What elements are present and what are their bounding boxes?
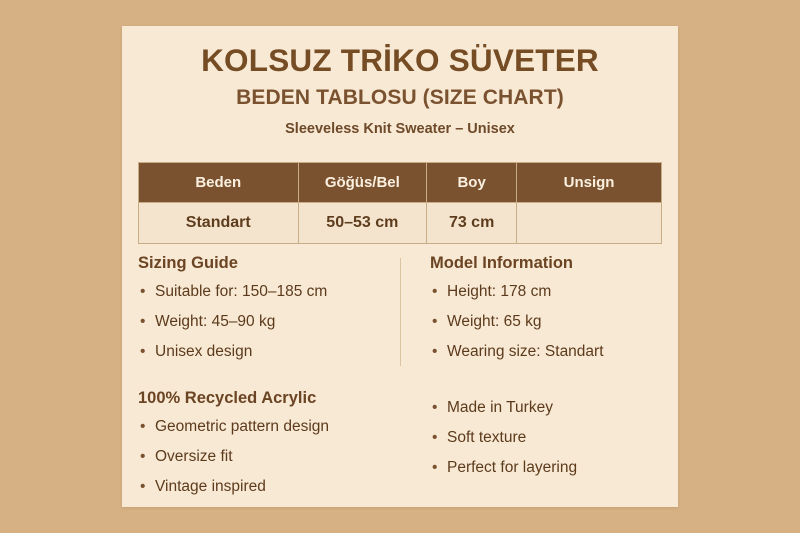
- list-item-label: Vintage inspired: [155, 478, 266, 495]
- list-item: •Wearing size: Standart: [430, 337, 662, 367]
- list-item: •Soft texture: [430, 423, 662, 453]
- material-heading: 100% Recycled Acrylic: [138, 389, 384, 408]
- table-cell-boy: 73 cm: [427, 203, 517, 244]
- bullet-icon: •: [432, 453, 437, 483]
- list-item-label: Geometric pattern design: [155, 418, 329, 435]
- list-item: •Weight: 45–90 kg: [138, 307, 384, 337]
- table-header-cell-gogus-bel: Göğüs/Bel: [298, 163, 427, 203]
- table-row: Standart 50–53 cm 73 cm: [139, 203, 662, 244]
- list-item-label: Height: 178 cm: [447, 283, 551, 300]
- table-header-cell-unsign: Unsign: [517, 163, 662, 203]
- bullet-icon: •: [432, 307, 437, 337]
- table-header-cell-boy: Boy: [427, 163, 517, 203]
- list-item-label: Made in Turkey: [447, 399, 553, 416]
- list-item: •Made in Turkey: [430, 393, 662, 423]
- sizing-guide-heading: Sizing Guide: [138, 254, 384, 273]
- table-header-cell-beden: Beden: [139, 163, 299, 203]
- page-title: KOLSUZ TRİKO SÜVETER: [122, 43, 678, 78]
- page-subtitle: BEDEN TABLOSU (SIZE CHART): [122, 86, 678, 110]
- model-information-list: •Height: 178 cm •Weight: 65 kg •Wearing …: [430, 277, 662, 367]
- list-item-label: Suitable for: 150–185 cm: [155, 283, 327, 300]
- left-info-column: Sizing Guide •Suitable for: 150–185 cm •…: [138, 254, 400, 502]
- features-list: •Made in Turkey •Soft texture •Perfect f…: [430, 393, 662, 483]
- card-header: KOLSUZ TRİKO SÜVETER BEDEN TABLOSU (SIZE…: [122, 26, 678, 137]
- bullet-icon: •: [432, 393, 437, 423]
- bullet-icon: •: [432, 423, 437, 453]
- bullet-icon: •: [432, 277, 437, 307]
- info-sections: Sizing Guide •Suitable for: 150–185 cm •…: [138, 254, 662, 502]
- list-item: •Suitable for: 150–185 cm: [138, 277, 384, 307]
- bullet-icon: •: [140, 472, 145, 502]
- right-info-column: Model Information •Height: 178 cm •Weigh…: [400, 254, 662, 502]
- list-item-label: Unisex design: [155, 343, 252, 360]
- bullet-icon: •: [432, 337, 437, 367]
- list-item-label: Soft texture: [447, 429, 526, 446]
- size-table: Beden Göğüs/Bel Boy Unsign Standart 50–5…: [138, 162, 662, 244]
- list-item: •Geometric pattern design: [138, 412, 384, 442]
- bullet-icon: •: [140, 337, 145, 367]
- list-item-label: Weight: 45–90 kg: [155, 313, 275, 330]
- table-header-row: Beden Göğüs/Bel Boy Unsign: [139, 163, 662, 203]
- list-item: •Oversize fit: [138, 442, 384, 472]
- model-information-heading: Model Information: [430, 254, 662, 273]
- bullet-icon: •: [140, 277, 145, 307]
- list-item: •Perfect for layering: [430, 453, 662, 483]
- size-chart-card: KOLSUZ TRİKO SÜVETER BEDEN TABLOSU (SIZE…: [122, 26, 678, 507]
- list-item: •Vintage inspired: [138, 472, 384, 502]
- table-cell-unsign: [517, 203, 662, 244]
- list-item: •Weight: 65 kg: [430, 307, 662, 337]
- list-item: •Height: 178 cm: [430, 277, 662, 307]
- bullet-icon: •: [140, 442, 145, 472]
- table-cell-gogus-bel: 50–53 cm: [298, 203, 427, 244]
- bullet-icon: •: [140, 412, 145, 442]
- list-item-label: Wearing size: Standart: [447, 343, 604, 360]
- material-list: •Geometric pattern design •Oversize fit …: [138, 412, 384, 502]
- list-item-label: Weight: 65 kg: [447, 313, 542, 330]
- sizing-guide-list: •Suitable for: 150–185 cm •Weight: 45–90…: [138, 277, 384, 367]
- size-table-container: Beden Göğüs/Bel Boy Unsign Standart 50–5…: [138, 162, 662, 244]
- list-item: •Unisex design: [138, 337, 384, 367]
- list-item-label: Perfect for layering: [447, 459, 577, 476]
- page-tagline: Sleeveless Knit Sweater – Unisex: [122, 121, 678, 137]
- bullet-icon: •: [140, 307, 145, 337]
- table-cell-beden: Standart: [139, 203, 299, 244]
- list-item-label: Oversize fit: [155, 448, 233, 465]
